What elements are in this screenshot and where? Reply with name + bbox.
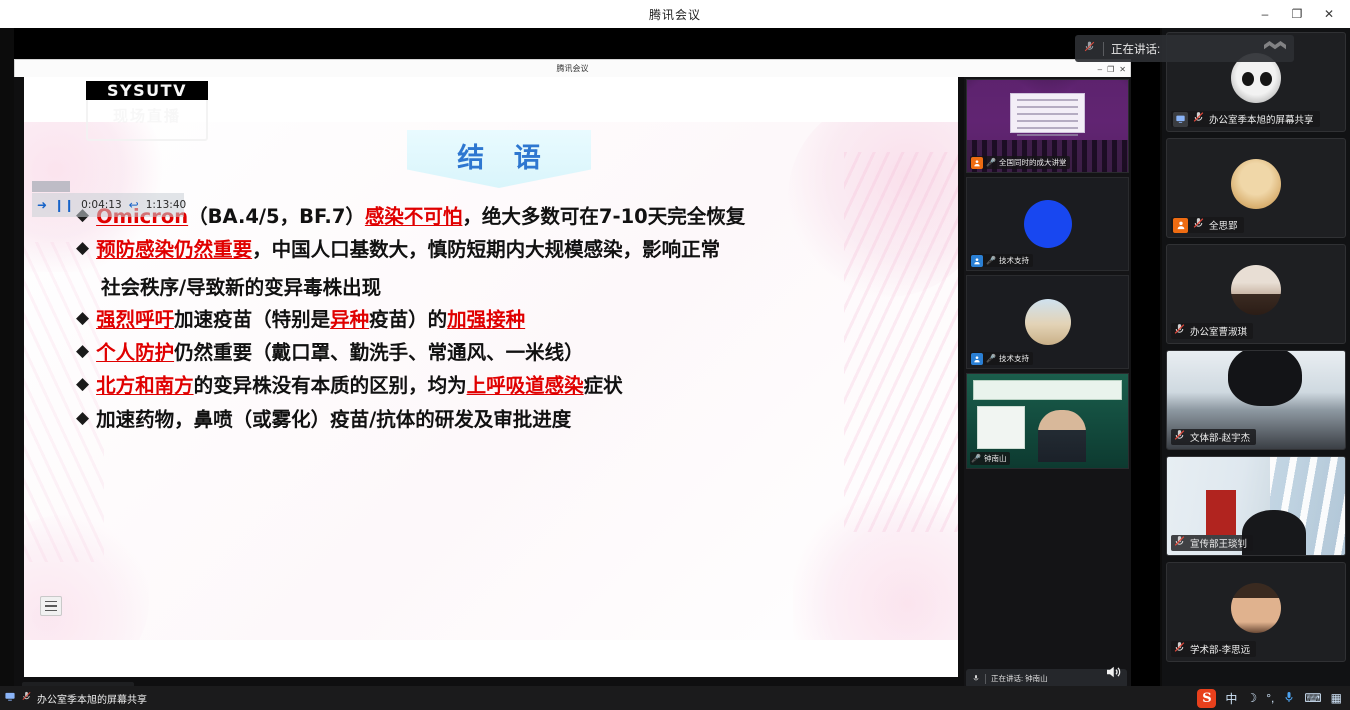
host-badge-icon [1173, 218, 1188, 233]
bullet-marker-icon: ◆ [76, 307, 89, 328]
mic-muted-icon [1173, 322, 1186, 341]
participant-badge-icon [971, 255, 983, 267]
watermark-line2: 现场直播 [86, 105, 208, 126]
taskbar-share-chip[interactable]: 办公室季本旭的屏幕共享 [4, 689, 147, 707]
nested-video-strip: 🎤 全国同时的成大讲堂 🎤 技术支持 [964, 77, 1131, 694]
nested-close-button[interactable]: ✕ [1119, 65, 1126, 74]
bullet-marker-icon: ◆ [76, 407, 89, 428]
nested-video-tile[interactable]: 🎤 钟南山 [966, 373, 1129, 469]
bullet-segment: 异种 [330, 308, 369, 331]
mic-muted-icon [1173, 640, 1186, 659]
bullet-segment: 北方和南方 [96, 374, 194, 397]
nested-meeting-window: 腾讯会议 – ❐ ✕ [14, 59, 1131, 694]
player-scrubber[interactable] [32, 181, 70, 192]
participant-name: 办公室曹淑琪 [1190, 324, 1247, 338]
slide-bullet-text: Omicron（BA.4/5，BF.7）感染不可怕，绝大多数可在7-10天完全恢… [96, 204, 745, 230]
mic-muted-icon: 🎤 [986, 354, 996, 363]
participant-tile[interactable]: 办公室曹淑琪 [1166, 244, 1346, 344]
divider [1103, 42, 1104, 56]
sysutv-watermark: SYSUTV 现场直播 [86, 91, 208, 141]
bullet-segment: 上呼吸道感染 [467, 374, 584, 397]
nested-window-content: 结 语 ◆Omicron（BA.4/5，BF.7）感染不可怕，绝大多数可在7-1… [14, 77, 1131, 694]
slide-bullet-text: 个人防护仍然重要（戴口罩、勤洗手、常通风、一米线） [96, 340, 584, 366]
bullet-segment: 加强接种 [447, 308, 525, 331]
participant-tile[interactable]: 文体部-赵宇杰 [1166, 350, 1346, 450]
speaker-icon[interactable] [1102, 663, 1124, 686]
moon-icon[interactable]: ☽ [1246, 691, 1257, 705]
slide-bullet: ◆加速药物，鼻喷（或雾化）疫苗/抗体的研发及审批进度 [76, 407, 936, 433]
avatar [1231, 583, 1281, 633]
participant-tile[interactable]: 宣传部王琰钊 [1166, 456, 1346, 556]
nested-window-titlebar: 腾讯会议 – ❐ ✕ [14, 59, 1131, 77]
sogou-logo-icon[interactable]: S [1197, 689, 1216, 708]
participant-name: 学术部-李思远 [1190, 642, 1250, 656]
bullet-segment: 个人防护 [96, 341, 174, 364]
maximize-button[interactable]: ❐ [1282, 2, 1312, 26]
bullet-marker-icon: ◆ [76, 373, 89, 394]
participant-name: 办公室季本旭的屏幕共享 [1209, 112, 1314, 126]
mic-on-icon: 🎤 [986, 158, 996, 167]
participant-name-chip: 办公室曹淑琪 [1171, 323, 1253, 339]
nested-minimize-button[interactable]: – [1098, 65, 1102, 74]
nested-video-tile[interactable]: 🎤 技术支持 [966, 275, 1129, 369]
slide-title: 结 语 [447, 136, 550, 175]
chinese-mode-icon[interactable]: 中 [1225, 690, 1237, 707]
presentation-area: 结 语 ◆Omicron（BA.4/5，BF.7）感染不可怕，绝大多数可在7-1… [24, 77, 958, 677]
slide-bullet: ◆强烈呼吁加速疫苗（特别是异种疫苗）的加强接种 [76, 307, 936, 333]
app-logo-icon [1264, 41, 1286, 52]
participant-name-chip: 全思郢 [1171, 217, 1244, 233]
nested-tile-name: 技术支持 [999, 353, 1029, 364]
speaking-banner: 正在讲话: [1075, 35, 1294, 62]
mic-muted-icon: 🎤 [986, 256, 996, 265]
app-body: 正在讲话: 腾讯会议 – ❐ ✕ [0, 28, 1350, 710]
nested-window-controls: – ❐ ✕ [1098, 60, 1126, 78]
nested-speaking-label: 正在讲话: 钟南山 [991, 673, 1048, 684]
player-current-time: 0:04:13 [81, 199, 121, 211]
slide-bullet-continuation: 社会秩序/导致新的变异毒株出现 [101, 271, 936, 300]
mic-on-icon [972, 670, 980, 688]
host-badge-icon [971, 157, 983, 169]
slide-bullet-text: 加速药物，鼻喷（或雾化）疫苗/抗体的研发及审批进度 [96, 407, 571, 433]
player-total-time: 1:13:40 [146, 199, 186, 211]
window-titlebar: 腾讯会议 – ❐ ✕ [0, 0, 1350, 28]
watermark-line1: SYSUTV [86, 81, 208, 100]
nested-tile-name: 钟南山 [984, 453, 1007, 464]
bullet-segment: 加速疫苗（特别是 [174, 308, 330, 331]
mic-muted-icon [1192, 216, 1205, 235]
mic-muted-icon [21, 689, 32, 707]
slide-bullet-text: 预防感染仍然重要，中国人口基数大，慎防短期内大规模感染，影响正常 [96, 237, 720, 263]
mic-muted-icon [1083, 40, 1096, 58]
bullet-segment: 仍然重要（戴口罩、勤洗手、常通风、一米线） [174, 341, 584, 364]
mic-muted-icon [1173, 428, 1186, 447]
nested-tile-name-chip: 🎤 技术支持 [970, 352, 1033, 365]
nested-tile-name-chip: 🎤 钟南山 [970, 452, 1010, 465]
participant-name-chip: 宣传部王琰钊 [1171, 535, 1253, 551]
nested-video-tile[interactable]: 🎤 技术支持 [966, 177, 1129, 271]
slide-menu-icon[interactable] [40, 596, 62, 616]
system-tray[interactable]: S 中 ☽ °, ⌨ ▦ [1197, 686, 1346, 710]
mic-on-icon: 🎤 [971, 454, 981, 463]
nested-tile-name-chip: 🎤 技术支持 [970, 254, 1033, 267]
taskbar-share-label: 办公室季本旭的屏幕共享 [37, 691, 147, 706]
pause-icon[interactable]: ❙❙ [54, 198, 74, 212]
video-player-controls[interactable]: ➜ ❙❙ 0:04:13 ↩ 1:13:40 [32, 177, 192, 217]
window-title: 腾讯会议 [649, 6, 701, 23]
keyboard-icon[interactable]: ⌨ [1304, 691, 1321, 705]
nested-tile-name: 技术支持 [999, 255, 1029, 266]
participant-name-chip: 办公室季本旭的屏幕共享 [1171, 111, 1320, 127]
bullet-segment: 预防感染仍然重要 [96, 238, 252, 261]
punctuation-icon[interactable]: °, [1266, 691, 1274, 705]
forward-icon[interactable]: ➜ [37, 198, 47, 212]
participant-name: 全思郢 [1209, 218, 1238, 232]
participant-badge-icon [971, 353, 983, 365]
slide-bullet: ◆预防感染仍然重要，中国人口基数大，慎防短期内大规模感染，影响正常 [76, 237, 936, 263]
participant-rail[interactable]: 办公室季本旭的屏幕共享全思郢办公室曹淑琪文体部-赵宇杰宣传部王琰钊学术部-李思远 [1162, 28, 1350, 710]
slide-bullet: ◆Omicron（BA.4/5，BF.7）感染不可怕，绝大多数可在7-10天完全… [76, 204, 936, 230]
bullet-segment: ，中国人口基数大，慎防短期内大规模感染，影响正常 [252, 238, 720, 261]
slide-title-banner: 结 语 [407, 130, 591, 188]
bullet-segment: 疫苗）的 [369, 308, 447, 331]
mic-muted-icon [1192, 110, 1205, 129]
minimize-button[interactable]: – [1250, 2, 1280, 26]
toolbox-icon[interactable]: ▦ [1331, 691, 1342, 705]
participant-name-chip: 学术部-李思远 [1171, 641, 1256, 657]
bullet-marker-icon: ◆ [76, 237, 89, 258]
bullet-segment: （BA.4/5，BF.7） [188, 205, 365, 228]
speaking-label: 正在讲话: [1111, 41, 1160, 57]
bullet-segment: 感染不可怕 [365, 205, 463, 228]
avatar [1231, 265, 1281, 315]
participant-tile[interactable]: 学术部-李思远 [1166, 562, 1346, 662]
bullet-segment: ，绝大多数可在7-10天完全恢复 [462, 205, 745, 228]
participant-name: 文体部-赵宇杰 [1190, 430, 1250, 444]
nested-maximize-button[interactable]: ❐ [1107, 65, 1114, 74]
bullet-segment: 加速药物，鼻喷（或雾化）疫苗/抗体的研发及审批进度 [96, 408, 571, 431]
screen-share-icon [1173, 112, 1188, 127]
bullet-segment: 的变异株没有本质的区别，均为 [194, 374, 467, 397]
app-root: 腾讯会议 – ❐ ✕ 正在讲话: [0, 0, 1350, 710]
bullet-segment: 强烈呼吁 [96, 308, 174, 331]
slide-bullet: ◆北方和南方的变异株没有本质的区别，均为上呼吸道感染症状 [76, 373, 936, 399]
close-button[interactable]: ✕ [1314, 2, 1344, 26]
bullet-segment: 症状 [584, 374, 623, 397]
bullet-marker-icon: ◆ [76, 340, 89, 361]
slide-bullet-text: 强烈呼吁加速疫苗（特别是异种疫苗）的加强接种 [96, 307, 525, 333]
player-bar[interactable]: ➜ ❙❙ 0:04:13 ↩ 1:13:40 [32, 193, 184, 217]
slide-bullets: ◆Omicron（BA.4/5，BF.7）感染不可怕，绝大多数可在7-10天完全… [76, 204, 936, 440]
participant-tile[interactable]: 全思郢 [1166, 138, 1346, 238]
voice-input-icon[interactable] [1283, 690, 1295, 707]
slide-bullet-text: 北方和南方的变异株没有本质的区别，均为上呼吸道感染症状 [96, 373, 623, 399]
screen-share-icon [4, 689, 16, 707]
nested-tile-name-chip: 🎤 全国同时的成大讲堂 [970, 156, 1070, 169]
nested-video-tile[interactable]: 🎤 全国同时的成大讲堂 [966, 79, 1129, 173]
slide-bullet: ◆个人防护仍然重要（戴口罩、勤洗手、常通风、一米线） [76, 340, 936, 366]
mic-muted-icon [1173, 534, 1186, 553]
rewind-icon[interactable]: ↩ [129, 198, 139, 212]
taskbar: 办公室季本旭的屏幕共享 S 中 ☽ °, ⌨ ▦ [0, 686, 1350, 710]
participant-name: 宣传部王琰钊 [1190, 536, 1247, 550]
nested-window-title: 腾讯会议 [557, 63, 589, 74]
avatar [1231, 159, 1281, 209]
shared-screen-stage: 正在讲话: 腾讯会议 – ❐ ✕ [14, 28, 1160, 694]
window-controls: – ❐ ✕ [1250, 0, 1344, 28]
nested-tile-name: 全国同时的成大讲堂 [999, 157, 1067, 168]
participant-name-chip: 文体部-赵宇杰 [1171, 429, 1256, 445]
